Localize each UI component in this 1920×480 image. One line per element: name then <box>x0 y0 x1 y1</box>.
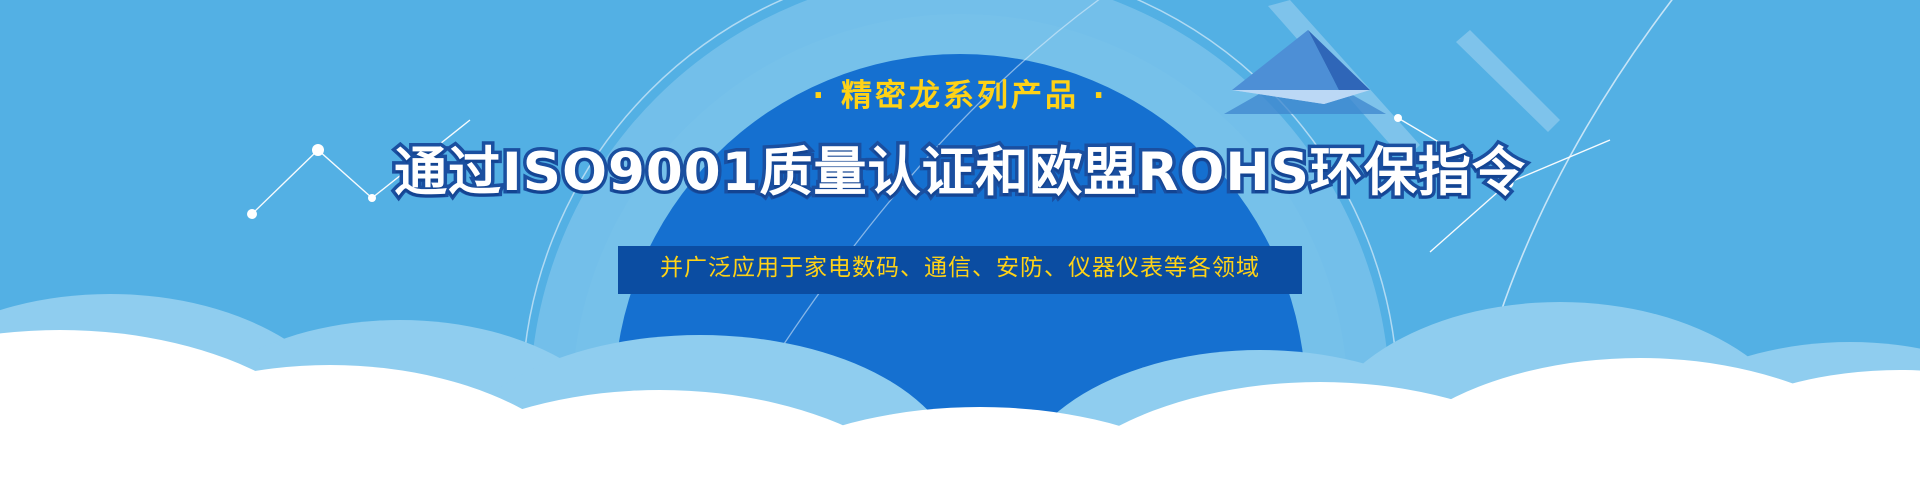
background-decoration <box>0 0 1920 480</box>
pyramid-logo <box>1220 18 1390 118</box>
promo-banner: · 精密龙系列产品 · 通过ISO9001质量认证和欧盟ROHS环保指令 并广泛… <box>0 0 1920 480</box>
